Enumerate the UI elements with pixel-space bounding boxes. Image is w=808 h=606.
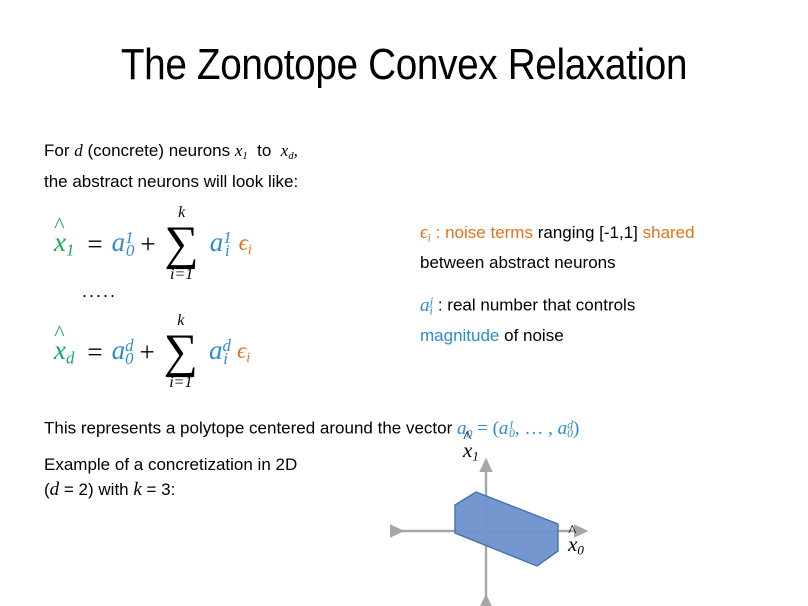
y-axis-label: ^x1	[463, 438, 479, 465]
note-epsilon-part4: between abstract neurons	[420, 253, 616, 272]
equation-1-epsilon: ϵi	[239, 230, 252, 259]
example-line2: (d = 2) with k = 3:	[44, 480, 175, 499]
equation-2-a0: ad0	[112, 335, 134, 369]
equation-1-plus: +	[140, 229, 155, 260]
equation-2-plus: +	[139, 337, 154, 368]
note-coefficient-part1: : real number that controls	[433, 296, 635, 315]
zonotope-svg	[390, 440, 630, 606]
equation-1-lhs: ^x1	[54, 227, 74, 261]
equation-2-summation: k ∑ i=1	[164, 313, 198, 391]
note-epsilon-part2: ranging [-1,1]	[538, 223, 643, 242]
note-epsilon-part3: shared	[643, 223, 695, 242]
ellipsis-dots: .....	[82, 281, 117, 302]
example-var-d: d	[50, 479, 60, 500]
hat-accent-icon: ^	[54, 322, 64, 344]
intro-line1: For d (concrete) neurons x1 to xd,	[44, 141, 298, 160]
equation-abstract-neuron-d: ^xd = ad0 + k ∑ i=1 adi ϵi	[54, 313, 250, 391]
hat-accent-icon: ^	[463, 428, 471, 445]
hat-accent-icon: ^	[568, 522, 576, 539]
polytope-text: This represents a polytope centered arou…	[44, 419, 457, 438]
intro-text: For d (concrete) neurons x1 to xd, the a…	[44, 138, 444, 194]
example-line1: Example of a concretization in 2D	[44, 455, 297, 474]
equation-1-equals: =	[87, 229, 102, 260]
slide-canvas: The Zonotope Convex Relaxation For d (co…	[0, 0, 808, 606]
note-epsilon-part1: : noise terms	[431, 223, 538, 242]
equation-abstract-neuron-1: ^x1 = a10 + k ∑ i=1 a1i ϵi	[54, 205, 252, 283]
equation-2-coefficient: adi	[209, 335, 228, 369]
note-coefficient-symbol: aij	[420, 295, 433, 316]
zonotope-polygon	[455, 492, 558, 566]
page-title: The Zonotope Convex Relaxation	[48, 40, 759, 90]
note-coefficient-part3: of noise	[499, 326, 563, 345]
intro-var-xd: xd	[281, 141, 294, 160]
intro-text-b: (concrete) neurons	[83, 141, 235, 160]
equation-2-epsilon: ϵi	[237, 338, 250, 367]
intro-text-a: For	[44, 141, 74, 160]
equation-2-equals: =	[87, 337, 102, 368]
intro-text-c: to	[248, 141, 281, 160]
intro-line2: the abstract neurons will look like:	[44, 172, 298, 191]
hat-accent-icon: ^	[54, 214, 64, 236]
intro-var-d: d	[74, 141, 83, 160]
sigma-icon: ∑	[165, 222, 199, 266]
example-var-k: k	[133, 479, 141, 500]
zonotope-diagram: ^x1 ^x0	[390, 440, 630, 606]
polytope-vector-expression: a0 = (a10, … , ad0)	[457, 418, 579, 439]
note-epsilon-symbol: ϵi	[420, 222, 431, 243]
x-axis-label: ^x0	[568, 532, 584, 559]
note-coefficient-part2: magnitude	[420, 326, 499, 345]
summation-lower-limit: i=1	[170, 267, 193, 283]
intro-var-x1: x1	[235, 141, 248, 160]
equation-1-coefficient: a1i	[210, 227, 230, 261]
note-epsilon-terms: ϵi : noise terms ranging [-1,1] shared b…	[420, 220, 750, 275]
example-description: Example of a concretization in 2D (d = 2…	[44, 452, 384, 502]
note-coefficient: aij : real number that controls magnitud…	[420, 289, 750, 348]
equation-1-a0: a10	[112, 227, 135, 261]
sigma-icon: ∑	[164, 330, 198, 374]
equation-1-summation: k ∑ i=1	[165, 205, 199, 283]
equation-2-lhs: ^xd	[54, 335, 74, 369]
intro-comma: ,	[294, 141, 298, 160]
summation-lower-limit: i=1	[169, 375, 192, 391]
